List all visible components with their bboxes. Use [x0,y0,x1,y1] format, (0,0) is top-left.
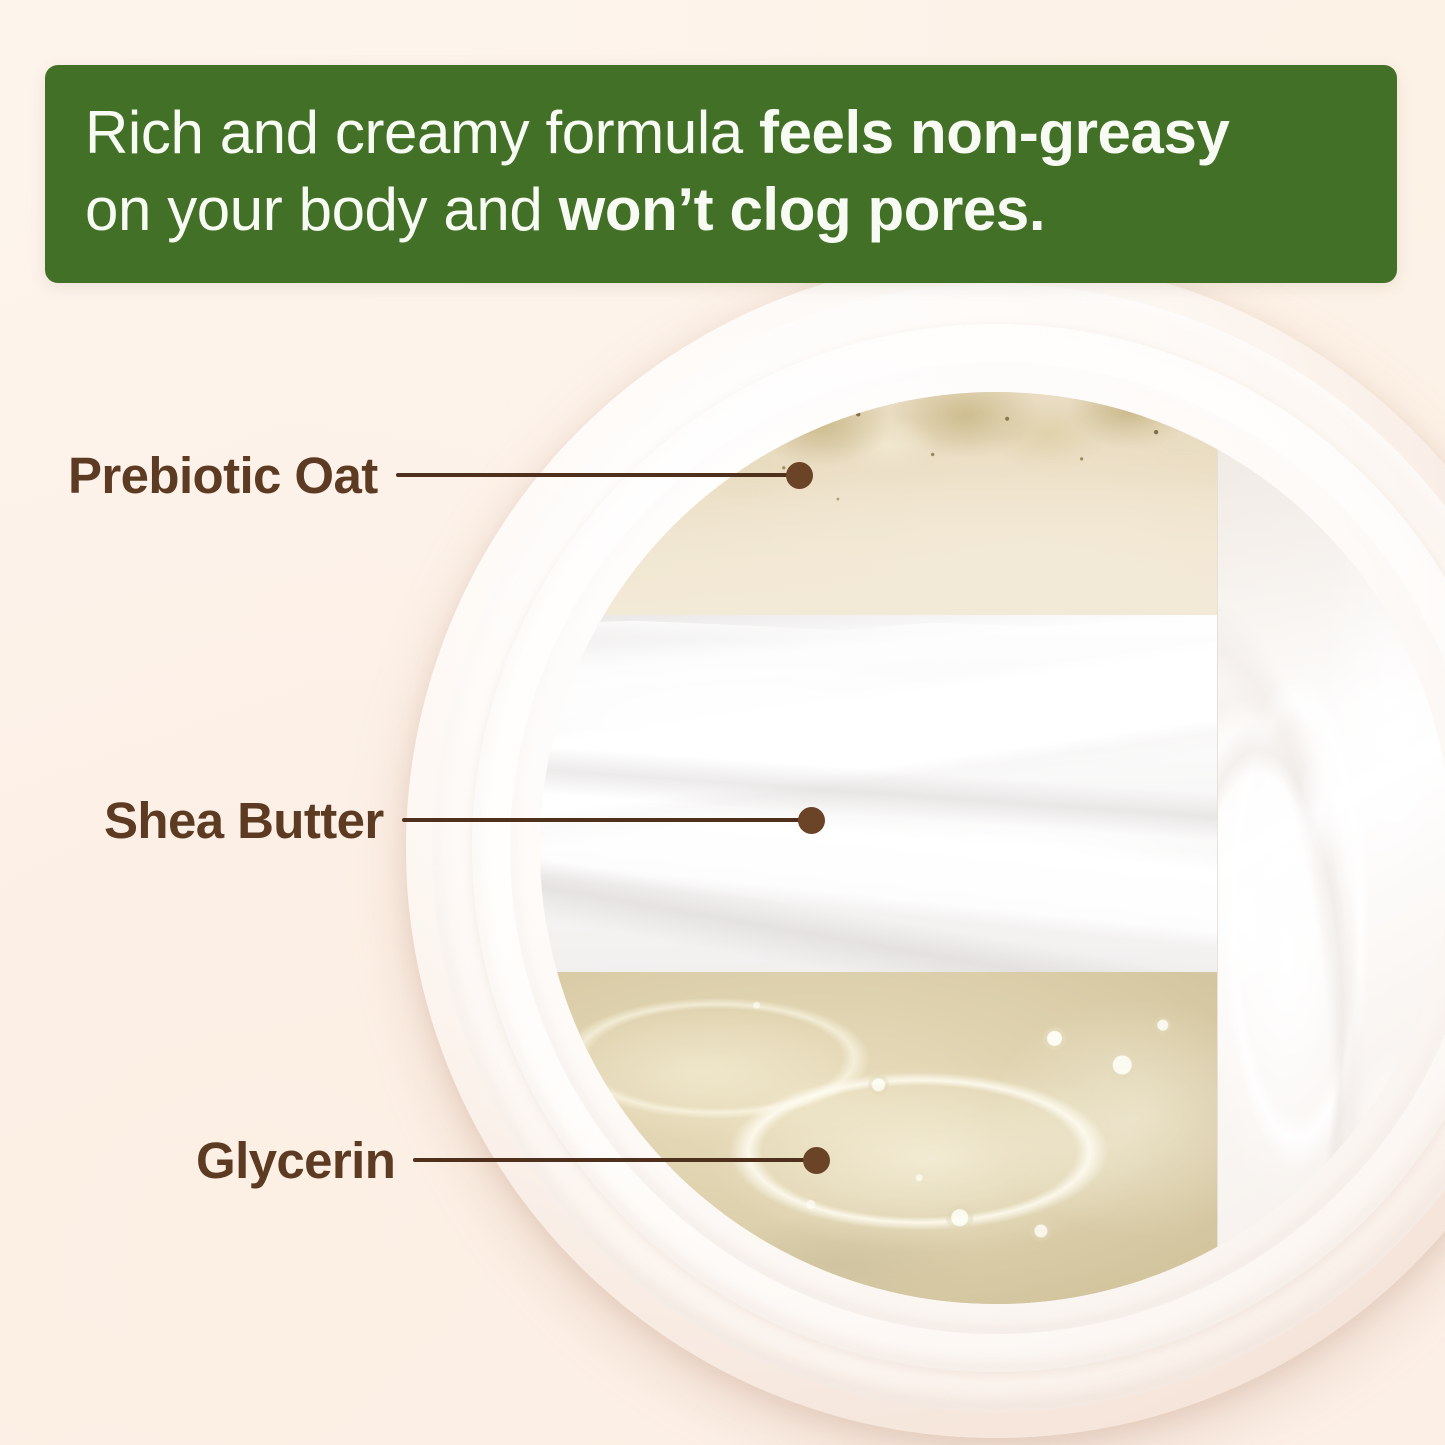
callout-leader-line [402,818,800,822]
product-infographic: Rich and creamy formula feels non-greasy… [0,0,1445,1445]
callout-shea-butter: Shea Butter [104,790,825,850]
callout-leader-line [396,473,788,477]
callout-glycerin: Glycerin [196,1130,830,1190]
headline-line1-regular: Rich and creamy formula [85,99,759,166]
headline-text: Rich and creamy formula feels non-greasy… [85,95,1359,249]
callout-dot-icon [786,462,813,489]
callout-label-shea-butter: Shea Butter [104,795,384,846]
headline-line1-bold: feels non-greasy [759,99,1229,166]
callout-dot-icon [803,1147,830,1174]
headline-line2-bold: won’t clog pores. [559,176,1046,243]
callout-label-prebiotic-oat: Prebiotic Oat [68,450,378,501]
finished-cream-swirl [1217,392,1445,1304]
callout-prebiotic-oat: Prebiotic Oat [68,445,813,505]
callout-leader-line [413,1158,805,1162]
swatch-split-divider [1217,392,1218,1304]
callout-label-glycerin: Glycerin [196,1135,395,1186]
headline-line2-regular: on your body and [85,176,559,243]
callout-dot-icon [798,807,825,834]
headline-banner: Rich and creamy formula feels non-greasy… [45,65,1397,283]
cream-top-shadow [1217,392,1445,702]
